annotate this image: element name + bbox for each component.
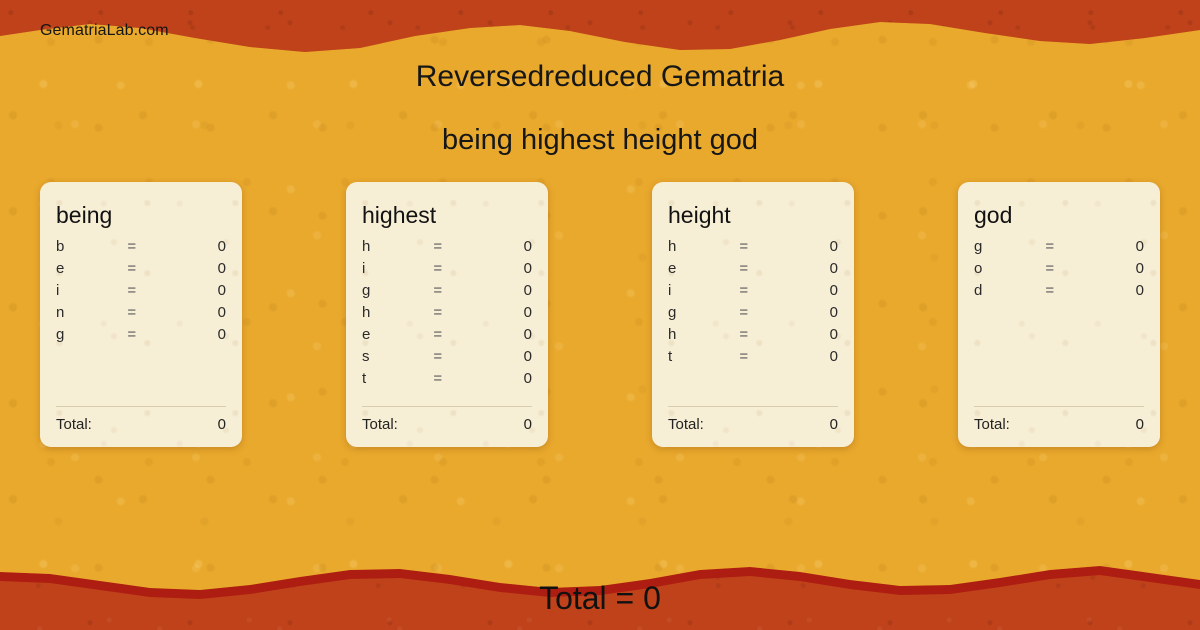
letter-value: 0: [478, 370, 532, 387]
page-subtitle: being highest height god: [0, 124, 1200, 157]
grand-total: Total = 0: [0, 580, 1200, 617]
letter-glyph: s: [362, 348, 433, 365]
letter-row: e=0: [56, 260, 226, 282]
letter-row-list: h=0e=0i=0g=0h=0t=0: [668, 238, 838, 370]
letter-glyph: h: [668, 326, 739, 343]
equals-sign: =: [1045, 260, 1089, 277]
letter-glyph: i: [668, 282, 739, 299]
equals-sign: =: [739, 326, 783, 343]
letter-value: 0: [478, 304, 532, 321]
card-divider: [56, 406, 226, 407]
card-total-value: 0: [218, 416, 226, 433]
equals-sign: =: [127, 238, 171, 255]
letter-row: h=0: [668, 326, 838, 348]
letter-glyph: b: [56, 238, 127, 255]
equals-sign: =: [739, 238, 783, 255]
letter-glyph: e: [362, 326, 433, 343]
card-total-label: Total:: [56, 416, 92, 433]
letter-value: 0: [478, 260, 532, 277]
letter-row: o=0: [974, 260, 1144, 282]
letter-value: 0: [478, 326, 532, 343]
letter-glyph: n: [56, 304, 127, 321]
letter-row-list: b=0e=0i=0n=0g=0: [56, 238, 226, 348]
letter-value: 0: [784, 348, 838, 365]
letter-row: s=0: [362, 348, 532, 370]
letter-row: t=0: [668, 348, 838, 370]
letter-row: b=0: [56, 238, 226, 260]
letter-row: n=0: [56, 304, 226, 326]
letter-glyph: t: [668, 348, 739, 365]
letter-glyph: d: [974, 282, 1045, 299]
letter-glyph: e: [668, 260, 739, 277]
letter-glyph: g: [974, 238, 1045, 255]
site-logo[interactable]: GematriaLab.com: [40, 22, 169, 40]
card-total-row: Total:0: [668, 416, 838, 433]
letter-row: h=0: [668, 238, 838, 260]
letter-value: 0: [172, 282, 226, 299]
word-card-title: god: [974, 202, 1144, 228]
card-spacer: [668, 370, 838, 400]
letter-glyph: h: [668, 238, 739, 255]
letter-glyph: i: [362, 260, 433, 277]
equals-sign: =: [127, 304, 171, 321]
equals-sign: =: [433, 260, 477, 277]
card-total-row: Total:0: [56, 416, 226, 433]
letter-glyph: i: [56, 282, 127, 299]
letter-value: 0: [478, 348, 532, 365]
card-total-label: Total:: [974, 416, 1010, 433]
card-total-value: 0: [830, 416, 838, 433]
letter-row: h=0: [362, 304, 532, 326]
word-card-title: being: [56, 202, 226, 228]
card-total-row: Total:0: [362, 416, 532, 433]
letter-row: g=0: [974, 238, 1144, 260]
letter-row: h=0: [362, 238, 532, 260]
letter-value: 0: [478, 238, 532, 255]
letter-value: 0: [478, 282, 532, 299]
letter-value: 0: [172, 304, 226, 321]
word-card-title: height: [668, 202, 838, 228]
card-total-value: 0: [1136, 416, 1144, 433]
word-card: highesth=0i=0g=0h=0e=0s=0t=0Total:0: [346, 182, 548, 447]
equals-sign: =: [433, 238, 477, 255]
equals-sign: =: [127, 282, 171, 299]
equals-sign: =: [739, 282, 783, 299]
letter-row: i=0: [668, 282, 838, 304]
word-card: godg=0o=0d=0Total:0: [958, 182, 1160, 447]
word-card: beingb=0e=0i=0n=0g=0Total:0: [40, 182, 242, 447]
letter-value: 0: [172, 260, 226, 277]
equals-sign: =: [739, 260, 783, 277]
page-title: Reversedreduced Gematria: [0, 60, 1200, 94]
word-card: heighth=0e=0i=0g=0h=0t=0Total:0: [652, 182, 854, 447]
letter-row: g=0: [56, 326, 226, 348]
card-divider: [668, 406, 838, 407]
card-total-row: Total:0: [974, 416, 1144, 433]
letter-value: 0: [1090, 238, 1144, 255]
card-spacer: [974, 304, 1144, 400]
equals-sign: =: [433, 282, 477, 299]
card-divider: [974, 406, 1144, 407]
card-spacer: [56, 348, 226, 400]
letter-glyph: g: [56, 326, 127, 343]
equals-sign: =: [739, 348, 783, 365]
letter-glyph: e: [56, 260, 127, 277]
equals-sign: =: [127, 260, 171, 277]
letter-value: 0: [784, 326, 838, 343]
equals-sign: =: [127, 326, 171, 343]
letter-value: 0: [1090, 260, 1144, 277]
letter-row: d=0: [974, 282, 1144, 304]
card-total-value: 0: [524, 416, 532, 433]
letter-row: e=0: [668, 260, 838, 282]
letter-value: 0: [784, 282, 838, 299]
letter-value: 0: [784, 260, 838, 277]
word-card-list: beingb=0e=0i=0n=0g=0Total:0highesth=0i=0…: [0, 182, 1200, 447]
letter-glyph: g: [362, 282, 433, 299]
letter-row: t=0: [362, 370, 532, 392]
letter-glyph: h: [362, 238, 433, 255]
letter-glyph: h: [362, 304, 433, 321]
equals-sign: =: [433, 370, 477, 387]
letter-value: 0: [172, 326, 226, 343]
equals-sign: =: [739, 304, 783, 321]
letter-value: 0: [784, 238, 838, 255]
equals-sign: =: [1045, 238, 1089, 255]
letter-glyph: g: [668, 304, 739, 321]
letter-row: g=0: [668, 304, 838, 326]
card-total-label: Total:: [362, 416, 398, 433]
letter-value: 0: [784, 304, 838, 321]
equals-sign: =: [433, 348, 477, 365]
letter-value: 0: [1090, 282, 1144, 299]
letter-row-list: h=0i=0g=0h=0e=0s=0t=0: [362, 238, 532, 392]
letter-value: 0: [172, 238, 226, 255]
word-card-title: highest: [362, 202, 532, 228]
letter-row: i=0: [362, 260, 532, 282]
card-divider: [362, 406, 532, 407]
letter-row: i=0: [56, 282, 226, 304]
equals-sign: =: [1045, 282, 1089, 299]
letter-glyph: t: [362, 370, 433, 387]
card-spacer: [362, 392, 532, 400]
letter-row-list: g=0o=0d=0: [974, 238, 1144, 304]
page-root: GematriaLab.com Reversedreduced Gematria…: [0, 0, 1200, 630]
equals-sign: =: [433, 326, 477, 343]
equals-sign: =: [433, 304, 477, 321]
letter-row: g=0: [362, 282, 532, 304]
letter-row: e=0: [362, 326, 532, 348]
card-total-label: Total:: [668, 416, 704, 433]
letter-glyph: o: [974, 260, 1045, 277]
